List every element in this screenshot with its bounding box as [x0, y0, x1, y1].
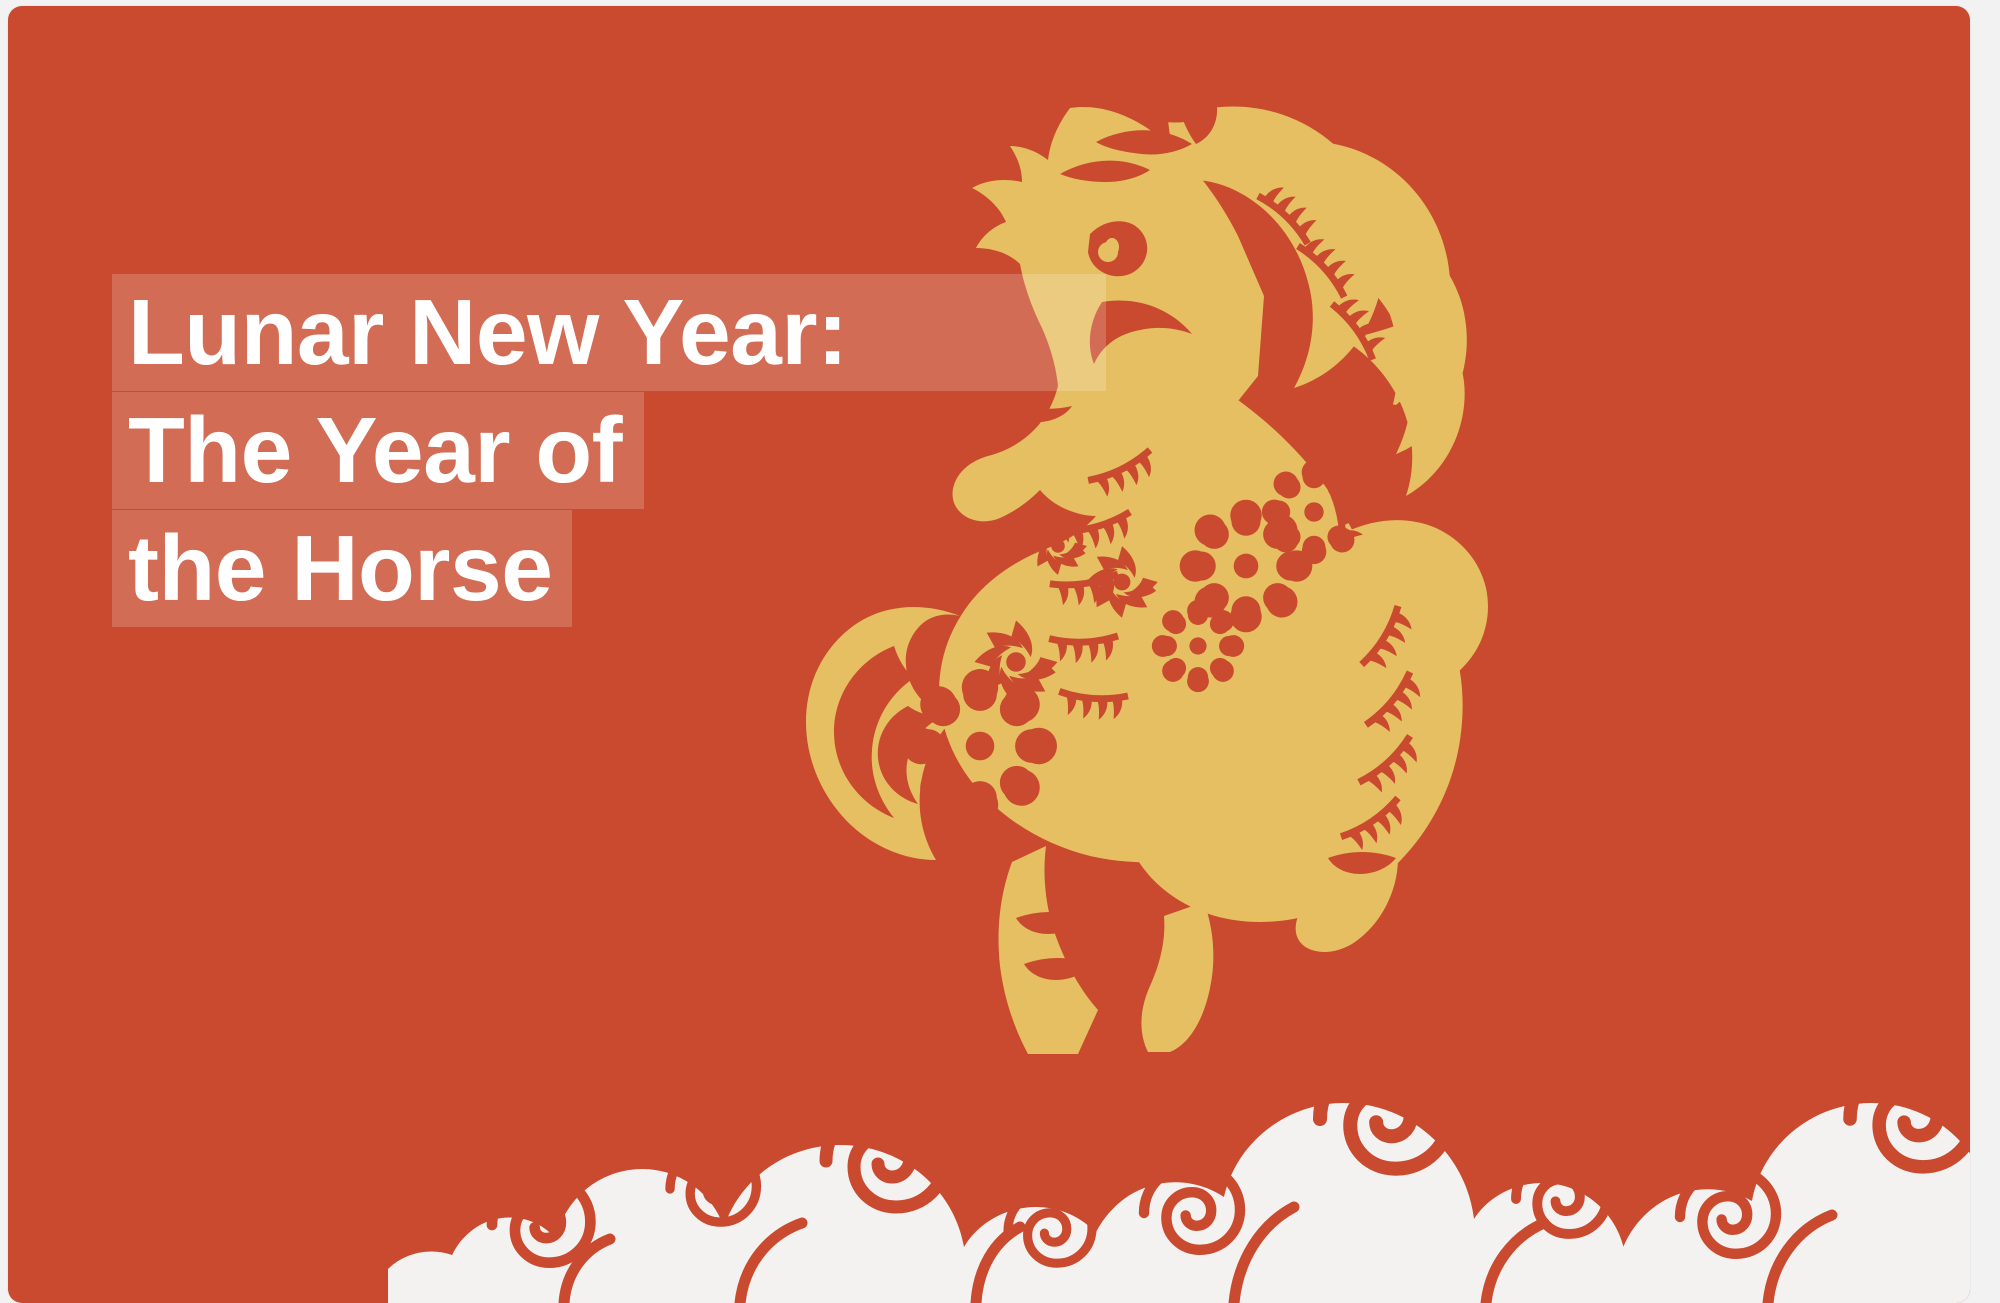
- headline-line-1: Lunar New Year:: [112, 274, 1106, 391]
- lunar-new-year-hero-card: Lunar New Year: The Year of the Horse: [8, 6, 1970, 1303]
- headline-line-3: the Horse: [112, 510, 572, 627]
- page-root: Lunar New Year: The Year of the Horse: [0, 0, 2000, 1303]
- paper-cut-clouds-icon: [388, 973, 1970, 1303]
- hero-headline: Lunar New Year: The Year of the Horse: [112, 274, 1106, 628]
- illustration-layer: [8, 6, 1970, 1303]
- headline-line-2: The Year of: [112, 392, 644, 509]
